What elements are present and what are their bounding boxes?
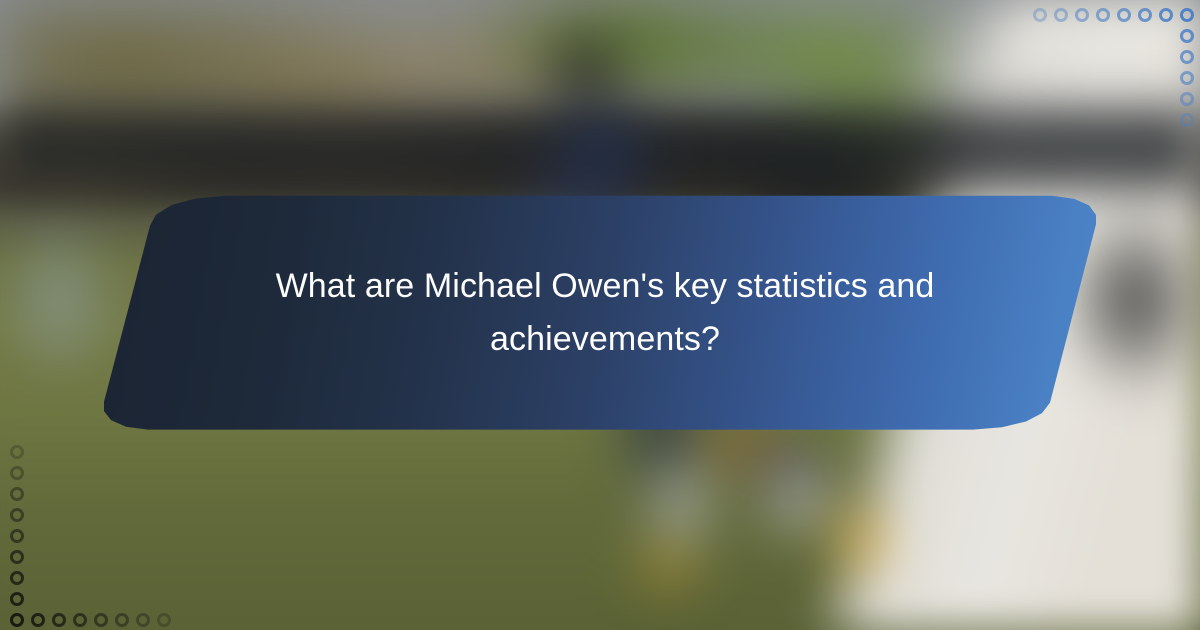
screenshot-canvas: What are Michael Owen's key statistics a…	[0, 0, 1200, 630]
question-card-text-area: What are Michael Owen's key statistics a…	[160, 196, 1050, 430]
question-text: What are Michael Owen's key statistics a…	[225, 260, 985, 365]
question-card-container: What are Michael Owen's key statistics a…	[0, 0, 1200, 630]
